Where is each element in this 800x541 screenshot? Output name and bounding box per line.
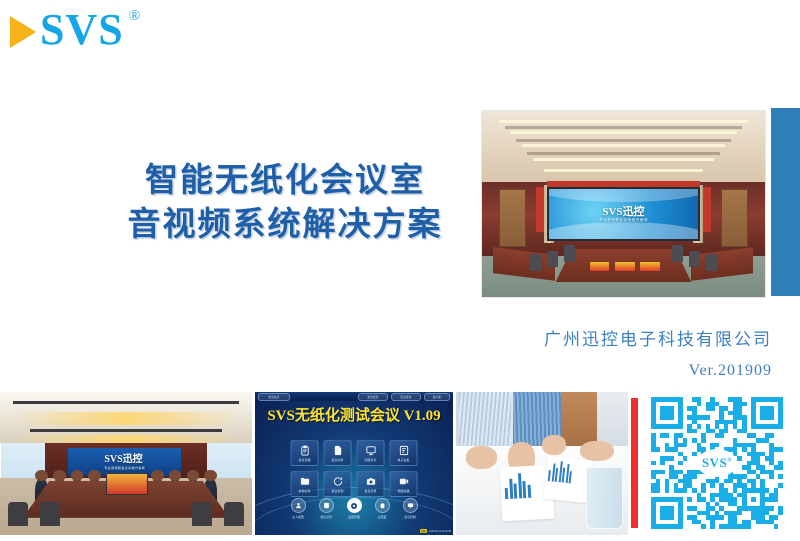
chair (689, 251, 700, 268)
tile-meeting-agenda[interactable]: 会议议程 (291, 440, 319, 466)
tile-sign-in[interactable]: 会议签到 (324, 471, 352, 497)
qr-center-logo: SVS® (697, 449, 737, 477)
laptop-screen (106, 473, 148, 495)
ceiling-beam (505, 126, 743, 129)
status-timestamp: 2019-08-12 14:26:08 (429, 530, 451, 533)
bottom-navbar: 主人权限 会议记录 设置管理 主页面 显示控制 (255, 498, 453, 519)
page-title: 智能无纸化会议室 音视频系统解决方案 (90, 158, 480, 246)
version-label: Ver.201909 (544, 362, 772, 380)
tile-label: 本地文件 (299, 489, 311, 493)
nav-display-control[interactable]: 显示控制 (403, 498, 418, 519)
hand (466, 446, 497, 469)
secondary-document (543, 456, 592, 503)
bottom-panel-meeting-room: SVS迅控 专业音视频会议系统方案商 (0, 392, 252, 535)
screen-brand: SVS (104, 454, 122, 465)
tile-screen-share[interactable]: 同屏共享 (357, 440, 385, 466)
red-accent-bar (631, 398, 638, 528)
chart-bar (504, 488, 508, 499)
chair (706, 254, 717, 271)
screen-brand-cn: 迅控 (623, 206, 645, 218)
tile-label: 同屏共享 (365, 458, 377, 462)
flower-arrangement (615, 262, 635, 271)
bottom-image-strip: SVS迅控 专业音视频会议系统方案商 (0, 392, 800, 535)
hero-conference-room-image: SVS迅控 专业音视频会议系统方案商 (481, 110, 766, 298)
door-right (721, 189, 748, 247)
ceiling-light (544, 169, 702, 172)
screen-brand-cn: 迅控 (123, 454, 143, 465)
ui-statusbar: 网络 2019-08-12 14:26:08 (420, 529, 451, 533)
end-meeting-button[interactable]: 结束会议 (391, 393, 421, 401)
water-glass (586, 467, 622, 529)
bar-chart (504, 469, 549, 499)
bottom-panel-business-discussion (456, 392, 628, 535)
qr-logo-text: SVS® (702, 455, 732, 471)
company-name: 广州迅控电子科技有限公司 (544, 328, 772, 354)
ceiling-light (20, 435, 232, 444)
tile-label: 会议记录 (365, 489, 377, 493)
hand (580, 441, 614, 461)
refresh-icon (332, 476, 343, 487)
gear-icon (347, 498, 362, 513)
ceiling-light (20, 412, 232, 425)
camera-icon (365, 476, 376, 487)
tile-label: 电子白板 (398, 458, 410, 462)
attendee-head (88, 470, 101, 481)
accent-bar (771, 108, 800, 296)
red-scroll-right (703, 187, 711, 232)
chair (530, 254, 541, 271)
qr-module (778, 524, 783, 529)
ui-topbar: 会议信息 退出会议 结束会议 最小化 (255, 392, 453, 401)
screen-brand-text: SVS迅控 专业音视频会议系统方案商 (599, 206, 648, 223)
nav-label: 设置管理 (348, 515, 360, 519)
door-left (499, 189, 526, 247)
bottom-panel-software-ui: 会议信息 退出会议 结束会议 最小化 SVS无纸化测试会议 V1.09 会议议程… (255, 392, 453, 535)
minimize-button[interactable]: 最小化 (424, 393, 450, 401)
registered-trademark-icon: ® (129, 8, 140, 25)
ceiling-beam (516, 139, 731, 142)
qr-code[interactable]: SVS® (651, 397, 783, 529)
nav-settings[interactable]: 设置管理 (347, 498, 362, 519)
home-icon (375, 498, 390, 513)
video-icon (398, 476, 409, 487)
tile-whiteboard[interactable]: 电子白板 (390, 440, 418, 466)
nav-home[interactable]: 主页面 (375, 498, 390, 519)
exit-meeting-button[interactable]: 退出会议 (358, 393, 388, 401)
tile-label: 会议议程 (299, 458, 311, 462)
ceiling-light (499, 120, 748, 123)
bottom-panel-qr-code: SVS® (631, 392, 800, 535)
screen-brand: SVS (602, 206, 622, 218)
tile-meeting-record[interactable]: 会议记录 (357, 471, 385, 497)
flower-arrangement (590, 262, 610, 271)
chair (8, 502, 28, 526)
tile-label: 视频点播 (398, 489, 410, 493)
nav-meeting-record[interactable]: 会议记录 (319, 498, 334, 519)
chair (547, 251, 558, 268)
topbar-actions: 退出会议 结束会议 最小化 (358, 393, 450, 401)
tile-video-playback[interactable]: 视频点播 (390, 471, 418, 497)
nav-label: 主页面 (378, 515, 387, 519)
nav-label: 会议记录 (320, 515, 332, 519)
chart-bar (513, 483, 517, 498)
tile-local-files[interactable]: 本地文件 (291, 471, 319, 497)
screen-wave-top (549, 189, 698, 201)
folder-icon (299, 476, 310, 487)
clipboard-icon (299, 445, 310, 456)
slide-cover: SVS ® 智能无纸化会议室 音视频系统解决方案 广州迅控电子科技有限公司 Ve… (0, 0, 800, 541)
chair (40, 502, 60, 526)
chart-bar (517, 473, 521, 498)
tile-label: 会议文件 (332, 458, 344, 462)
title-line-1: 智能无纸化会议室 (90, 158, 480, 202)
status-badge: 网络 (420, 529, 427, 533)
screen-share-icon (365, 445, 376, 456)
screen-subtitle: 专业音视频会议系统方案商 (599, 219, 648, 223)
screen-subtitle: 专业音视频会议系统方案商 (104, 467, 145, 470)
tile-label: 会议签到 (332, 489, 344, 493)
person-icon (291, 498, 306, 513)
nav-label: 主人权限 (292, 515, 304, 519)
led-screen-content: SVS迅控 专业音视频会议系统方案商 (549, 189, 698, 239)
title-line-2: 音视频系统解决方案 (90, 202, 480, 246)
screen-wave-bottom (549, 222, 698, 239)
tile-meeting-files[interactable]: 会议文件 (324, 440, 352, 466)
app-title: SVS无纸化测试会议 V1.09 (255, 404, 453, 425)
chair (192, 502, 212, 526)
chair (224, 502, 244, 526)
company-block: 广州迅控电子科技有限公司 Ver.201909 (544, 328, 772, 380)
ceiling-light (510, 131, 736, 134)
note-icon (319, 498, 334, 513)
ceiling-beam (527, 152, 719, 155)
ceiling-light (533, 158, 714, 161)
screen-brand-text: SVS迅控 专业音视频会议系统方案商 (104, 455, 145, 470)
ceiling-beam (30, 429, 222, 432)
file-stack-icon (332, 445, 343, 456)
bar-chart (548, 459, 589, 485)
nav-host-rights[interactable]: 主人权限 (291, 498, 306, 519)
chart-bar (508, 479, 512, 499)
play-triangle-icon (10, 16, 36, 48)
logo-wordmark: SVS (40, 8, 124, 52)
ceiling-beam (13, 401, 240, 404)
red-scroll-left (536, 187, 544, 232)
monitor-icon (403, 498, 418, 513)
whiteboard-icon (398, 445, 409, 456)
feature-tile-grid: 会议议程 会议文件 同屏共享 电子白板 本地文件 (291, 440, 418, 497)
attendee-head (53, 470, 66, 481)
chair (564, 245, 575, 262)
led-screen: SVS迅控 专业音视频会议系统方案商 (547, 187, 700, 241)
chair (672, 245, 683, 262)
chart-bar (569, 471, 572, 483)
attendee-head (204, 470, 217, 481)
nav-label: 显示控制 (404, 515, 416, 519)
brand-logo: SVS ® (10, 10, 139, 54)
meeting-info-button[interactable]: 会议信息 (258, 393, 290, 401)
flower-arrangement (640, 262, 660, 271)
hand (542, 435, 566, 455)
chart-bar (527, 485, 531, 498)
chart-bar (522, 481, 526, 498)
